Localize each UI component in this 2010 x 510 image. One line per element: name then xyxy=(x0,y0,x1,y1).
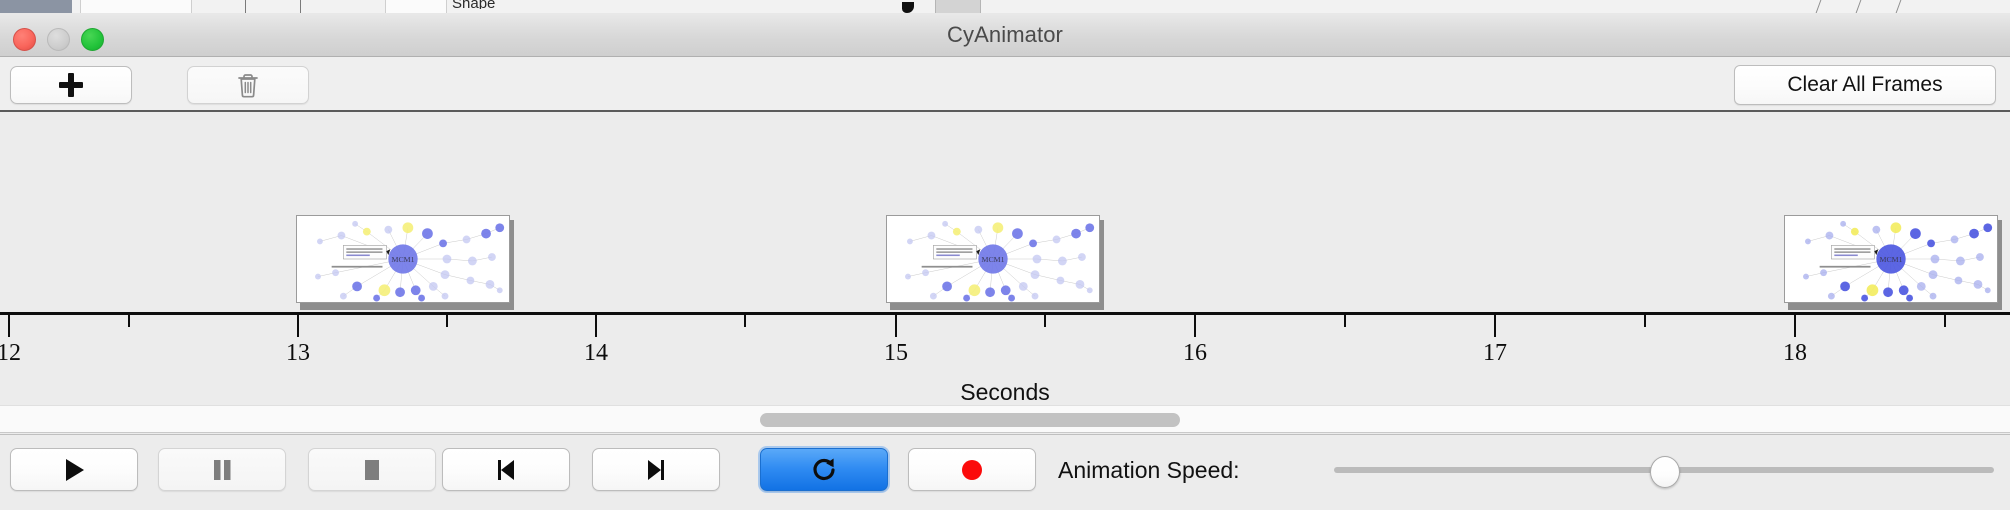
axis-tick-major xyxy=(1494,315,1496,337)
axis-line xyxy=(0,312,2010,315)
trash-icon xyxy=(237,72,259,98)
window-controls xyxy=(13,28,104,51)
axis-tick-major xyxy=(895,315,897,337)
background-cursor-glyph xyxy=(902,2,914,13)
axis-tick-label: 15 xyxy=(856,340,936,367)
background-tick xyxy=(300,0,301,13)
svg-text:MCM1: MCM1 xyxy=(392,255,415,264)
background-segment xyxy=(80,0,192,13)
pause-icon xyxy=(209,456,235,484)
background-graybox xyxy=(935,0,981,13)
record-icon xyxy=(959,457,985,483)
skip-to-start-button[interactable] xyxy=(442,448,570,491)
add-frame-button[interactable] xyxy=(10,66,132,104)
stop-icon xyxy=(359,456,385,484)
frame-thumbnail[interactable]: MCM1 xyxy=(886,215,1104,307)
plus-icon xyxy=(58,72,84,98)
frame-thumbnail-image: MCM1 xyxy=(886,215,1100,303)
axis-tick-minor xyxy=(1944,315,1946,327)
axis-tick-label: 16 xyxy=(1155,340,1235,367)
background-sidebar-sliver xyxy=(0,0,72,13)
svg-text:MCM1: MCM1 xyxy=(1880,255,1903,264)
axis-tick-minor xyxy=(1344,315,1346,327)
background-slash xyxy=(1896,0,1912,13)
axis-title: Seconds xyxy=(0,379,2010,405)
window-title: CyAnimator xyxy=(0,13,2010,57)
frame-thumbnail-strip: MCM1MCM1MCM1 xyxy=(0,112,2010,312)
axis-tick-label: 17 xyxy=(1455,340,1535,367)
axis-tick-label: 18 xyxy=(1755,340,1835,367)
pause-button[interactable] xyxy=(158,448,286,491)
clear-all-frames-label: Clear All Frames xyxy=(1787,73,1942,97)
axis-tick-minor xyxy=(128,315,130,327)
axis-tick-major xyxy=(595,315,597,337)
frame-thumbnail[interactable]: MCM1 xyxy=(296,215,514,307)
axis-tick-minor xyxy=(446,315,448,327)
skip-back-icon xyxy=(493,456,519,484)
axis-tick-major xyxy=(1794,315,1796,337)
background-segment xyxy=(385,0,447,13)
transport-bar: Animation Speed: xyxy=(0,434,2010,510)
axis-tick-minor xyxy=(1644,315,1646,327)
axis-tick-label: 13 xyxy=(258,340,338,367)
axis-tick-minor xyxy=(1044,315,1046,327)
zoom-button[interactable] xyxy=(81,28,104,51)
play-button[interactable] xyxy=(10,448,138,491)
stop-button[interactable] xyxy=(308,448,436,491)
cyanimator-window: Shape CyAnimator Clear All Frames xyxy=(0,0,2010,510)
background-tick xyxy=(245,0,246,13)
delete-frame-button[interactable] xyxy=(187,66,309,104)
axis-tick-minor xyxy=(744,315,746,327)
animation-speed-label: Animation Speed: xyxy=(1058,457,1240,484)
loop-button[interactable] xyxy=(760,448,888,491)
skip-forward-icon xyxy=(643,456,669,484)
clear-all-frames-button[interactable]: Clear All Frames xyxy=(1734,65,1996,105)
background-window-strip: Shape xyxy=(0,0,2010,14)
timeline-axis: 12131415161718 Seconds xyxy=(0,312,2010,405)
play-icon xyxy=(61,456,87,484)
axis-tick-label: 14 xyxy=(556,340,636,367)
background-slash xyxy=(1816,0,1832,13)
frame-thumbnail-image: MCM1 xyxy=(1784,215,1998,303)
timeline-scrollbar-thumb[interactable] xyxy=(760,413,1180,427)
animation-speed-slider[interactable] xyxy=(1334,448,1994,491)
frame-thumbnail[interactable]: MCM1 xyxy=(1784,215,2002,307)
timeline-panel[interactable]: MCM1MCM1MCM1 12131415161718 Seconds xyxy=(0,110,2010,405)
minimize-button[interactable] xyxy=(47,28,70,51)
close-button[interactable] xyxy=(13,28,36,51)
loop-icon xyxy=(809,455,839,485)
axis-tick-major xyxy=(297,315,299,337)
background-slash xyxy=(1856,0,1872,13)
svg-text:MCM1: MCM1 xyxy=(982,255,1005,264)
axis-tick-label: 12 xyxy=(0,340,49,367)
slider-thumb[interactable] xyxy=(1650,456,1680,488)
frame-thumbnail-image: MCM1 xyxy=(296,215,510,303)
title-bar: CyAnimator xyxy=(0,13,2010,57)
axis-tick-major xyxy=(8,315,10,337)
timeline-scrollbar[interactable] xyxy=(0,405,2010,433)
axis-tick-major xyxy=(1194,315,1196,337)
background-ghost-label: Shape xyxy=(452,0,495,9)
record-button[interactable] xyxy=(908,448,1036,491)
frame-toolbar: Clear All Frames xyxy=(0,57,2010,110)
skip-to-end-button[interactable] xyxy=(592,448,720,491)
